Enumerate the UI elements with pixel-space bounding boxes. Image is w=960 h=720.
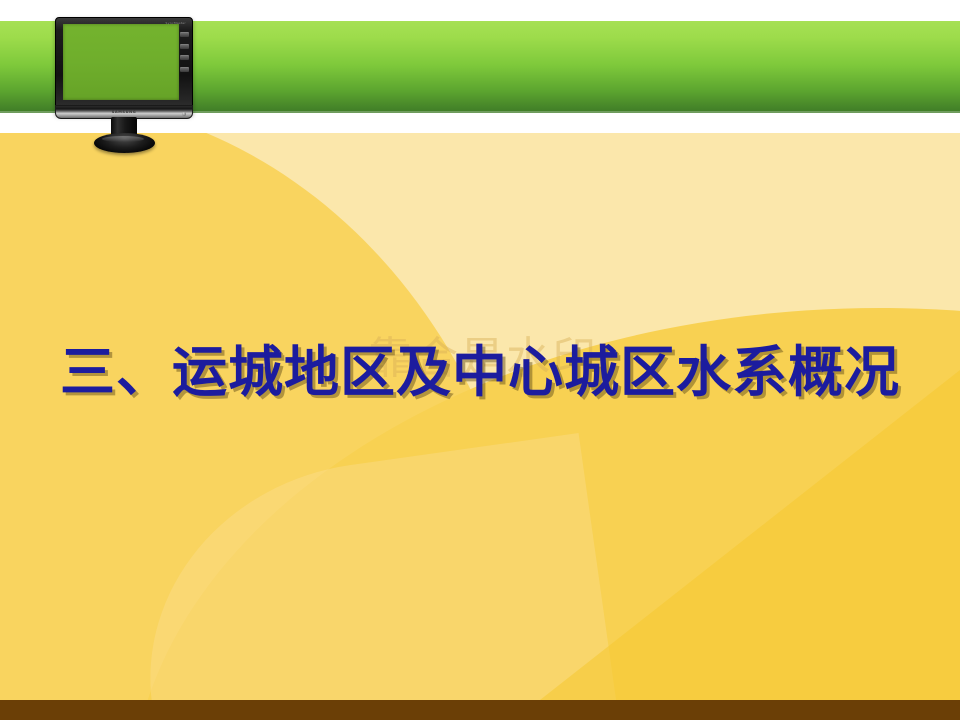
monitor-button-group	[180, 32, 189, 72]
footer-bar	[0, 700, 960, 720]
monitor-button-auto-icon	[180, 55, 189, 60]
presentation-slide: SyncMaster SAMSUNG 靠合是水印 三、运城地区及中心城区水系概况	[0, 0, 960, 720]
monitor-body: SyncMaster	[55, 17, 193, 115]
monitor-power-led-icon	[182, 112, 186, 116]
monitor-button-menu-icon	[180, 32, 189, 37]
monitor-button-source-icon	[180, 44, 189, 49]
slide-background	[0, 133, 960, 700]
monitor-button-enter-icon	[180, 67, 189, 72]
monitor-model-label: SyncMaster	[166, 21, 186, 25]
monitor-brand-label: SAMSUNG	[112, 110, 137, 114]
monitor-illustration: SyncMaster SAMSUNG	[55, 17, 197, 143]
monitor-screen	[63, 24, 179, 100]
slide-title: 三、运城地区及中心城区水系概况	[0, 337, 960, 407]
monitor-stand-base-highlight	[102, 136, 144, 142]
